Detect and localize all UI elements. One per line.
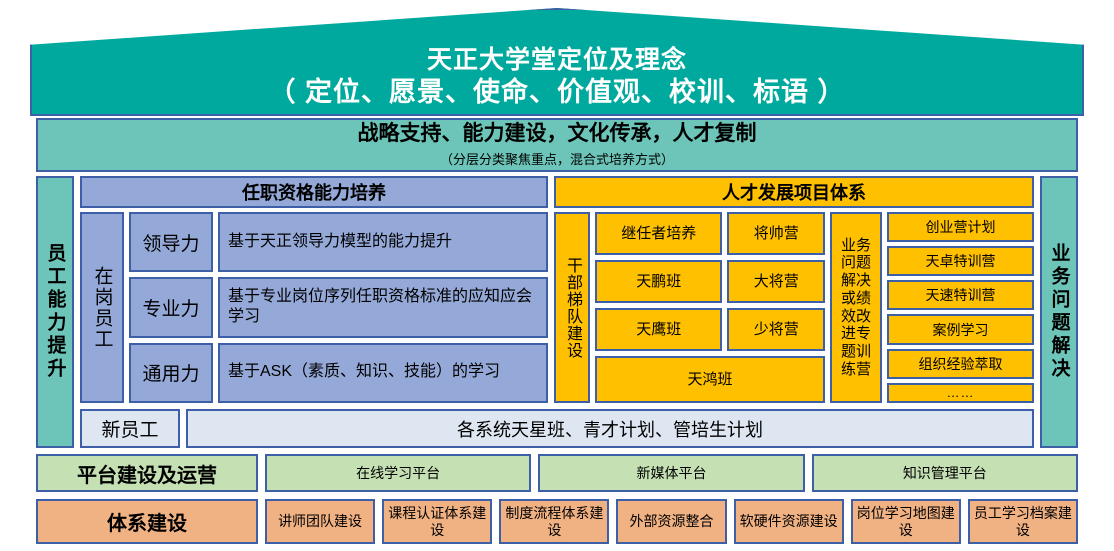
system-learning-map[interactable]: 岗位学习地图建设 bbox=[851, 499, 961, 544]
left-sidebar-employee-capability: 员工能力提升 bbox=[36, 176, 74, 448]
program-column: 创业营计划 天卓特训营 天速特训营 案例学习 组织经验萃取 …… bbox=[887, 212, 1034, 403]
program-more-ellipsis[interactable]: …… bbox=[887, 383, 1034, 403]
cadre-tianying-class[interactable]: 天鹰班 bbox=[595, 308, 722, 351]
business-problem-camp-label: 业务问题解决或绩效改进专题训练营 bbox=[830, 212, 882, 403]
program-tiansu-camp[interactable]: 天速特训营 bbox=[887, 280, 1034, 310]
qualification-header: 任职资格能力培养 bbox=[80, 176, 548, 208]
system-lead-label: 体系建设 bbox=[36, 499, 258, 544]
platform-row: 平台建设及运营 在线学习平台 新媒体平台 知识管理平台 bbox=[36, 454, 1078, 492]
skill-desc-general: 基于ASK（素质、知识、技能）的学习 bbox=[218, 343, 548, 403]
program-tianzhuo-camp[interactable]: 天卓特训营 bbox=[887, 246, 1034, 276]
skill-general[interactable]: 通用力 bbox=[129, 343, 213, 403]
platform-new-media[interactable]: 新媒体平台 bbox=[538, 454, 804, 492]
skill-name-column: 领导力 专业力 通用力 bbox=[129, 212, 213, 403]
program-experience-extraction[interactable]: 组织经验萃取 bbox=[887, 349, 1034, 379]
cadre-junior-general-camp[interactable]: 少将营 bbox=[727, 308, 825, 351]
cadre-row: 天鹰班 少将营 bbox=[595, 308, 825, 351]
new-employee-row: 新员工 各系统天星班、青才计划、管培生计划 bbox=[80, 409, 1034, 448]
cadre-pipeline-label: 干部梯队建设 bbox=[554, 212, 590, 403]
system-row: 体系建设 讲师团队建设 课程认证体系建设 制度流程体系建设 外部资源整合 软硬件… bbox=[36, 499, 1078, 544]
center-column: 任职资格能力培养 在岗员工 领导力 专业力 通用力 基于天正领导力模型的能力提升… bbox=[80, 176, 1034, 448]
cadre-major-general-camp[interactable]: 大将营 bbox=[727, 260, 825, 303]
talent-body: 干部梯队建设 继任者培养 将帅营 天鹏班 大将营 天鹰班 bbox=[554, 212, 1034, 403]
skill-desc-column: 基于天正领导力模型的能力提升 基于专业岗位序列任职资格标准的应知应会学习 基于A… bbox=[218, 212, 548, 403]
cadre-tianhong-class[interactable]: 天鸿班 bbox=[595, 356, 825, 403]
cadre-tianpeng-class[interactable]: 天鹏班 bbox=[595, 260, 722, 303]
roof-title-line1: 天正大学堂定位及理念 bbox=[427, 46, 687, 76]
roof-title-line2: （ 定位、愿景、使命、价值观、校训、标语 ） bbox=[268, 76, 845, 108]
cadre-row: 天鹏班 大将营 bbox=[595, 260, 825, 303]
roof-banner: 天正大学堂定位及理念 （ 定位、愿景、使命、价值观、校训、标语 ） bbox=[30, 8, 1084, 116]
system-hardware-software[interactable]: 软硬件资源建设 bbox=[734, 499, 844, 544]
program-startup-camp[interactable]: 创业营计划 bbox=[887, 212, 1034, 242]
system-trainer-team[interactable]: 讲师团队建设 bbox=[265, 499, 375, 544]
cadre-row: 继任者培养 将帅营 bbox=[595, 212, 825, 255]
pyramid-diagram: 天正大学堂定位及理念 （ 定位、愿景、使命、价值观、校训、标语 ） 战略支持、能… bbox=[0, 0, 1114, 551]
skill-leadership[interactable]: 领导力 bbox=[129, 212, 213, 272]
new-employee-label: 新员工 bbox=[80, 409, 180, 448]
system-external-resources[interactable]: 外部资源整合 bbox=[616, 499, 726, 544]
qualification-body: 在岗员工 领导力 专业力 通用力 基于天正领导力模型的能力提升 基于专业岗位序列… bbox=[80, 212, 548, 403]
strategy-band-subtitle: （分层分类聚焦重点，混合式培养方式） bbox=[440, 149, 674, 168]
platform-knowledge-management[interactable]: 知识管理平台 bbox=[812, 454, 1078, 492]
qualification-panel: 任职资格能力培养 在岗员工 领导力 专业力 通用力 基于天正领导力模型的能力提升… bbox=[80, 176, 548, 403]
platform-online-learning[interactable]: 在线学习平台 bbox=[265, 454, 531, 492]
strategy-band-title: 战略支持、能力建设，文化传承，人才复制 bbox=[358, 122, 757, 145]
skill-desc-leadership: 基于天正领导力模型的能力提升 bbox=[218, 212, 548, 272]
cadre-program-grid: 继任者培养 将帅营 天鹏班 大将营 天鹰班 少将营 天鸿班 bbox=[595, 212, 825, 403]
system-course-certification[interactable]: 课程认证体系建设 bbox=[382, 499, 492, 544]
platform-lead-label: 平台建设及运营 bbox=[36, 454, 258, 492]
right-sidebar-business-problem: 业务问题解决 bbox=[1040, 176, 1078, 448]
main-body: 员工能力提升 任职资格能力培养 在岗员工 领导力 专业力 通用力 基于天正领导 bbox=[36, 176, 1078, 448]
system-process-institution[interactable]: 制度流程体系建设 bbox=[499, 499, 609, 544]
cadre-successor-development[interactable]: 继任者培养 bbox=[595, 212, 722, 255]
skill-desc-professional: 基于专业岗位序列任职资格标准的应知应会学习 bbox=[218, 277, 548, 337]
strategy-band: 战略支持、能力建设，文化传承，人才复制 （分层分类聚焦重点，混合式培养方式） bbox=[36, 118, 1078, 172]
new-employee-programs: 各系统天星班、青才计划、管培生计划 bbox=[186, 409, 1034, 448]
onjob-employee-label: 在岗员工 bbox=[80, 212, 124, 403]
talent-panel: 人才发展项目体系 干部梯队建设 继任者培养 将帅营 天鹏班 大将营 bbox=[554, 176, 1034, 403]
skill-professional[interactable]: 专业力 bbox=[129, 277, 213, 337]
talent-header: 人才发展项目体系 bbox=[554, 176, 1034, 208]
program-case-study[interactable]: 案例学习 bbox=[887, 314, 1034, 344]
cadre-general-camp[interactable]: 将帅营 bbox=[727, 212, 825, 255]
system-employee-records[interactable]: 员工学习档案建设 bbox=[968, 499, 1078, 544]
upper-row: 任职资格能力培养 在岗员工 领导力 专业力 通用力 基于天正领导力模型的能力提升… bbox=[80, 176, 1034, 403]
